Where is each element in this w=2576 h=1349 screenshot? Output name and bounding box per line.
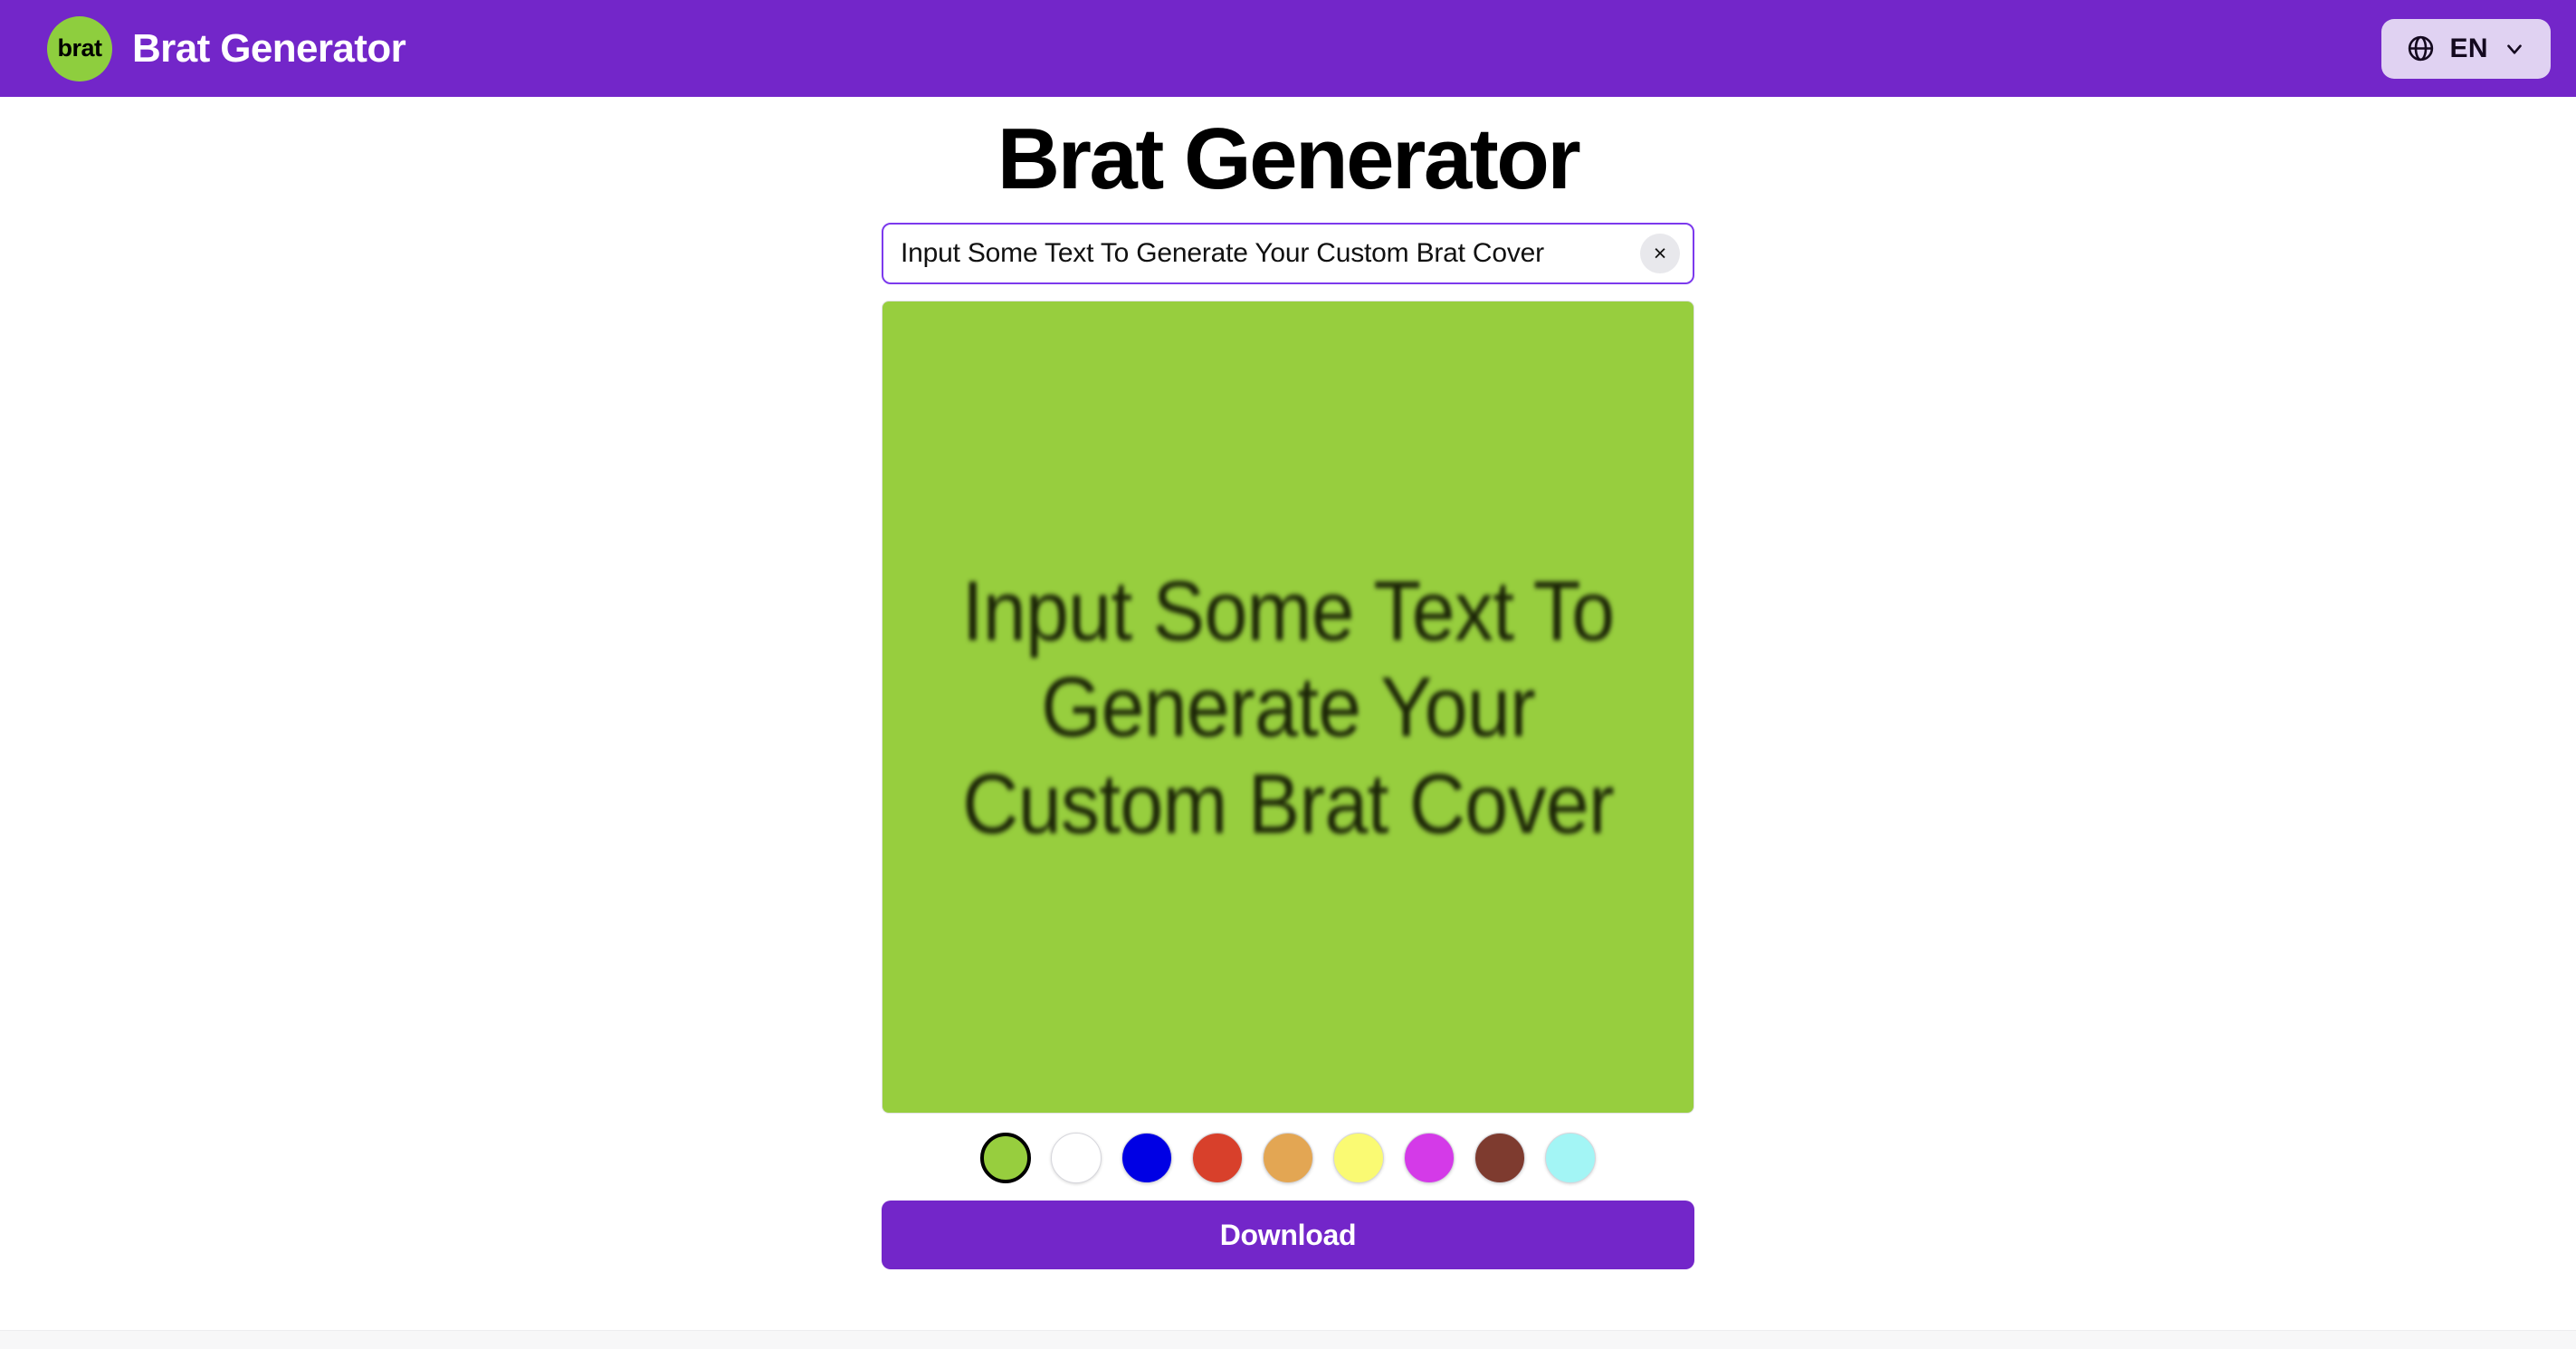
color-swatch-green[interactable] [980,1133,1031,1183]
logo-text: brat [57,36,101,61]
brand: brat Brat Generator [47,16,405,81]
language-selector-value: EN [2450,35,2488,62]
brat-cover-preview[interactable]: Input Some Text To Generate Your Custom … [882,301,1694,1114]
below-fold-band [0,1330,2576,1349]
clear-input-button[interactable]: × [1640,234,1680,273]
globe-icon [2406,33,2436,63]
color-swatch-magenta[interactable] [1404,1133,1455,1183]
site-header: brat Brat Generator EN [0,0,2576,97]
color-swatch-row [882,1130,1694,1186]
page-title: Brat Generator [997,110,1579,208]
brat-text-input[interactable] [882,223,1694,284]
chevron-down-icon [2503,37,2526,61]
color-swatch-yellow[interactable] [1333,1133,1384,1183]
color-swatch-brown[interactable] [1474,1133,1525,1183]
brand-title: Brat Generator [132,26,405,72]
main-content: Brat Generator × Input Some Text To Gene… [0,97,2576,1269]
language-selector-button[interactable]: EN [2381,19,2551,79]
generator-panel: × Input Some Text To Generate Your Custo… [882,208,1694,1269]
text-input-wrapper: × [882,223,1694,284]
color-swatch-blue[interactable] [1121,1133,1172,1183]
color-swatch-cyan[interactable] [1545,1133,1596,1183]
download-button[interactable]: Download [882,1201,1694,1269]
brat-cover-text: Input Some Text To Generate Your Custom … [933,563,1643,852]
brat-circle-logo-icon[interactable]: brat [47,16,112,81]
color-swatch-white[interactable] [1051,1133,1102,1183]
color-swatch-orange[interactable] [1263,1133,1313,1183]
color-swatch-red[interactable] [1192,1133,1243,1183]
